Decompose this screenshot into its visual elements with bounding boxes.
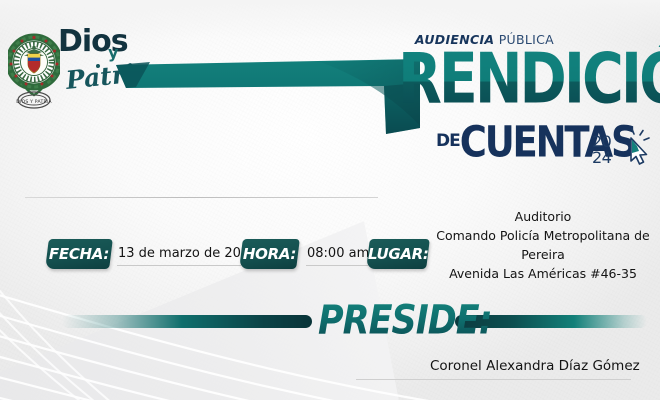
date-value: 13 de marzo de 2024 (118, 246, 257, 261)
preside-bar-left (62, 315, 312, 328)
section-divider (25, 197, 378, 198)
place-label-badge: LUGAR: (366, 239, 430, 269)
subtitle-de: DE (436, 131, 460, 151)
time-value-underline (306, 265, 368, 266)
teal-ribbon-graphic (110, 56, 420, 138)
place-label-text: LUGAR: (368, 239, 428, 269)
place-value-block: Auditorio Comando Policía Metropolitana … (428, 207, 658, 283)
speaker-name: Coronel Alexandra Díaz Gómez (430, 358, 630, 374)
place-line-3: Avenida Las Américas #46-35 (428, 264, 658, 283)
police-coat-of-arms-emblem: DIOS Y PATRIA (8, 16, 60, 120)
title-rendicion: RENDICIÓN (398, 45, 660, 107)
svg-text:DIOS Y PATRIA: DIOS Y PATRIA (16, 99, 52, 105)
time-value: 08:00 am (307, 246, 369, 261)
speaker-underline (356, 379, 631, 380)
year-bottom: 24 (592, 150, 611, 166)
year-block: 20 24 (592, 134, 611, 166)
time-label-badge: HORA: (239, 239, 300, 269)
place-line-2: Comando Policía Metropolitana de Pereira (428, 226, 658, 264)
headline-block: AUDIENCIA PÚBLICA RENDICIÓN DECUENTAS 20… (380, 28, 660, 188)
rendicion-de-cuentas-poster: DIOS Y PATRIA Dios y Patria (0, 0, 660, 400)
click-cursor-icon (620, 128, 654, 170)
date-label-text: FECHA: (47, 239, 111, 269)
date-label-badge: FECHA: (45, 239, 113, 269)
time-label-text: HORA: (241, 239, 298, 269)
place-line-1: Auditorio (428, 207, 658, 226)
preside-label: PRESIDE: (318, 298, 492, 344)
title-clip: RENDICIÓN (398, 45, 660, 107)
date-value-underline (117, 265, 241, 266)
